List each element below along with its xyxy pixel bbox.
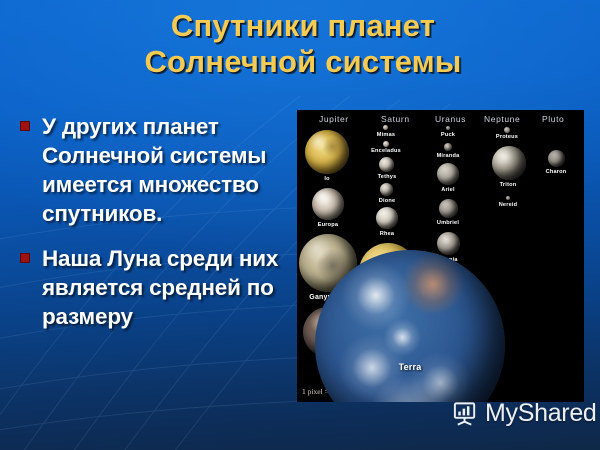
moon-label-ganymede: Ganymede: [309, 294, 346, 301]
moon-label-titania: Titania: [438, 257, 457, 263]
moon-enceladus: [383, 141, 389, 147]
moon-callisto: [303, 307, 353, 357]
moon-nereid: [506, 196, 510, 200]
moon-label-nereid: Nereid: [499, 202, 518, 208]
bullet-text: У других планет Солнечной системы имеетс…: [42, 112, 302, 228]
myshared-watermark-label: MyShared: [485, 399, 597, 428]
square-bullet-icon: [20, 253, 30, 263]
moon-io: [305, 130, 349, 174]
moon-label-rhea: Rhea: [380, 231, 394, 237]
moon-label-miranda: Miranda: [437, 153, 460, 159]
moon-titania: [437, 232, 460, 255]
moon-label-callisto: Callisto: [317, 359, 339, 365]
column-header-jupiter: Jupiter: [319, 114, 349, 124]
presentation-chart-icon: [452, 400, 479, 427]
bullet-list: У других планет Солнечной системы имеетс…: [10, 112, 302, 347]
moon-label-ariel: Ariel: [441, 187, 454, 193]
bullet-text: Наша Луна среди них является средней по …: [42, 244, 302, 331]
moon-label-umbriel: Umbriel: [437, 220, 459, 226]
moon-label-oberon: Oberon: [437, 293, 458, 299]
column-header-saturn: Saturn: [381, 114, 410, 124]
column-header-neptune: Neptune: [484, 114, 520, 124]
moon-rhea: [376, 207, 398, 229]
moon-hyperion: [385, 315, 390, 319]
moon-label-hyperion: Hyperion: [375, 321, 401, 327]
moon-mimas: [383, 125, 388, 130]
moon-charon: [548, 150, 565, 167]
moon-label-dione: Dione: [379, 198, 396, 204]
moon-label-charon: Charon: [546, 169, 567, 175]
moon-proteus: [504, 127, 510, 133]
moon-label-puck: Puck: [441, 132, 455, 138]
moon-label-triton: Triton: [500, 182, 517, 188]
column-header-uranus: Uranus: [435, 114, 466, 124]
moon-europa: [312, 188, 344, 220]
moon-dione: [380, 183, 393, 196]
list-item: Наша Луна среди них является средней по …: [10, 244, 302, 331]
moon-label-io: Io: [324, 176, 329, 182]
moon-label-luna: Luna: [445, 383, 463, 390]
moon-titan: [359, 243, 417, 301]
moon-puck: [446, 126, 450, 130]
page-title-line-2: Солнечной системы: [38, 44, 568, 80]
moon-miranda: [444, 143, 452, 151]
page-title-line-1: Спутники планет: [171, 8, 435, 43]
moon-umbriel: [439, 199, 458, 218]
myshared-watermark: MyShared: [452, 399, 597, 428]
moon-label-phoebe: Phoebe: [377, 372, 398, 378]
moon-label-titan: Titan: [379, 303, 397, 310]
moon-label-mimas: Mimas: [377, 132, 395, 138]
moon-phoebe: [386, 366, 390, 370]
moon-luna: [436, 340, 477, 381]
moon-ganymede: [299, 234, 357, 292]
moon-label-enceladus: Enceladus: [371, 148, 401, 154]
slide-canvas: Спутники планет Солнечной системы У друг…: [0, 0, 600, 450]
moons-comparison-figure: Jupiter Saturn Uranus Neptune Pluto Io E…: [297, 110, 584, 402]
moon-tethys: [379, 157, 394, 172]
page-title: Спутники планет Солнечной системы: [38, 8, 568, 80]
moon-iapetus: [380, 331, 397, 348]
moon-oberon: [438, 269, 460, 291]
square-bullet-icon: [20, 121, 30, 131]
moon-label-tethys: Tethys: [378, 174, 397, 180]
moon-label-proteus: Proteus: [496, 134, 518, 140]
scale-note: 1 pixel = 50km: [302, 387, 348, 396]
moon-triton: [492, 146, 526, 180]
list-item: У других планет Солнечной системы имеетс…: [10, 112, 302, 228]
column-header-pluto: Pluto: [542, 114, 564, 124]
moon-ariel: [437, 163, 459, 185]
moon-label-iapetus: Iapetus: [378, 350, 399, 356]
moon-label-europa: Europa: [318, 222, 338, 228]
